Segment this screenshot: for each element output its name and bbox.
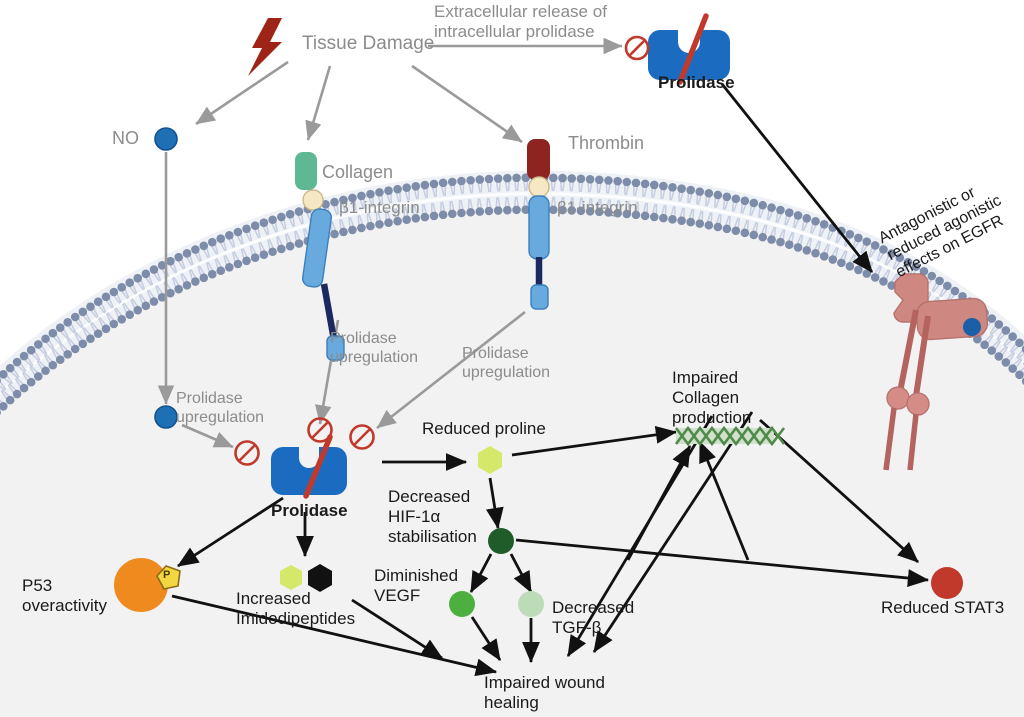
label-reduced-proline: Reduced proline <box>422 419 546 439</box>
arrow-tissue-to-collagen <box>308 66 330 140</box>
integrin-head-right <box>529 177 549 197</box>
arrow-tissue-to-thrombin <box>412 66 522 142</box>
thrombin-ligand <box>527 139 550 180</box>
label-extracellular-release: Extracellular release of intracellular p… <box>434 2 607 42</box>
no-node <box>155 128 177 150</box>
label-prolidase-upregulation-3: Prolidase upregulation <box>462 345 550 383</box>
lightning-bolt-icon <box>248 18 282 76</box>
label-p53-overactivity: P53 overactivity <box>22 576 107 616</box>
label-increased-imidodipeptides: Increased Imidodipeptides <box>236 589 355 629</box>
hif1a-node <box>488 528 514 554</box>
label-diminished-vegf: Diminished VEGF <box>374 566 458 606</box>
label-reduced-stat3: Reduced STAT3 <box>881 598 1004 618</box>
label-b1-integrin-left: β1-integrin <box>339 198 420 218</box>
arrow-tissue-to-no <box>196 62 288 124</box>
label-no: NO <box>112 128 139 149</box>
collagen-fiber <box>676 428 784 444</box>
inhibition-symbol-extracellular <box>626 37 648 59</box>
tgfb-node <box>518 591 544 617</box>
label-decreased-hif: Decreased HIF-1α stabilisation <box>388 487 477 547</box>
stat3-node <box>931 567 963 599</box>
integrin-head-left <box>303 190 323 210</box>
label-prolidase-extracellular: Prolidase <box>658 73 735 93</box>
label-collagen-ligand: Collagen <box>322 162 393 183</box>
integrin-stalk-right <box>529 196 549 259</box>
label-tissue-damage: Tissue Damage <box>302 33 434 55</box>
label-b1-integrin-right: β1-integrin <box>557 198 638 218</box>
label-prolidase-intracellular: Prolidase <box>271 501 348 521</box>
label-prolidase-upregulation-2: Prolidase upregulation <box>330 330 418 368</box>
label-decreased-tgfb: Decreased TGF-β <box>552 598 634 638</box>
label-impaired-collagen: Impaired Collagen production <box>672 368 751 428</box>
label-thrombin-ligand: Thrombin <box>568 133 644 154</box>
label-impaired-wound-healing: Impaired wound healing <box>484 673 605 713</box>
label-prolidase-upregulation-1: Prolidase upregulation <box>176 390 264 428</box>
label-phosphate: P <box>163 569 170 582</box>
egfr-ligand-dot <box>963 318 981 336</box>
collagen-ligand <box>295 152 317 190</box>
no-node-intracellular <box>155 406 177 428</box>
pathway-diagram: Tissue Damage Extracellular release of i… <box>0 0 1024 717</box>
integrin-tail-right <box>531 285 548 309</box>
